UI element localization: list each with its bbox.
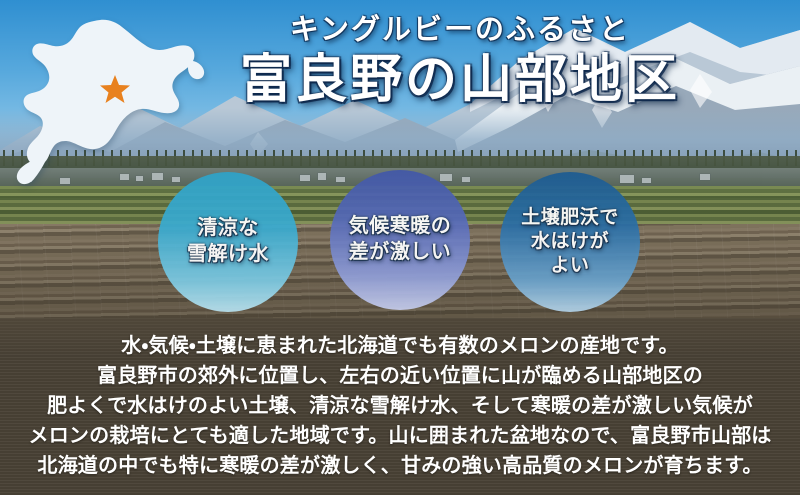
description-line: メロンの栽培にとても適した地域です。山に囲まれた盆地なので、富良野市山部は <box>0 421 800 451</box>
feature-circle-temperature-range: 気候寒暖の 差が激しい <box>330 170 470 310</box>
description-line: 肥よくで水はけのよい土壌、清涼な雪解け水、そして寒暖の差が激しい気候が <box>0 391 800 421</box>
feature-circle-label: 土壌肥沃で 水はけが よい <box>515 206 625 279</box>
description-line: 富良野市の郊外に位置し、左右の近い位置に山が臨める山部地区の <box>0 361 800 391</box>
description-line: 水・気候・土壌に恵まれた北海道でも有数のメロンの産地です。 <box>0 331 800 361</box>
feature-circle-clean-meltwater: 清涼な 雪解け水 <box>158 172 298 312</box>
description-panel: 水・気候・土壌に恵まれた北海道でも有数のメロンの産地です。 富良野市の郊外に位置… <box>0 318 800 495</box>
feature-circle-label: 気候寒暖の 差が激しい <box>343 214 458 265</box>
feature-circle-fertile-soil: 土壌肥沃で 水はけが よい <box>500 172 640 312</box>
description-text-block: 水・気候・土壌に恵まれた北海道でも有数のメロンの産地です。 富良野市の郊外に位置… <box>0 318 800 481</box>
promo-banner: キングルビーのふるさと 富良野の山部地区 清涼な 雪解け水 気候寒暖の 差が激し… <box>0 0 800 495</box>
description-line: 北海道の中でも特に寒暖の差が激しく、甘みの強い高品質のメロンが育ちます。 <box>0 451 800 481</box>
feature-circle-label: 清涼な 雪解け水 <box>181 216 275 267</box>
